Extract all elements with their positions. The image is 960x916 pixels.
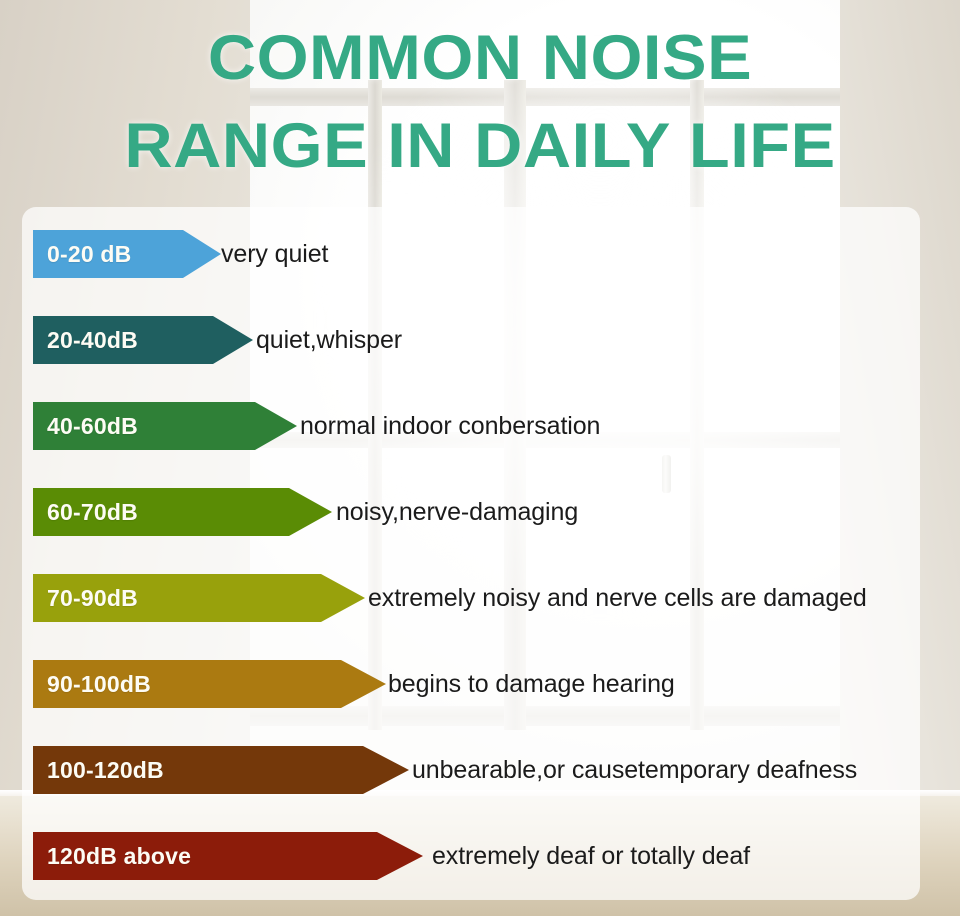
noise-range-label: 0-20 dB (33, 241, 131, 268)
noise-range-label: 120dB above (33, 843, 191, 870)
noise-range-arrow[interactable]: 100-120dB (33, 746, 409, 794)
noise-range-label: 70-90dB (33, 585, 138, 612)
noise-level-row: 20-40dBquiet,whisper (33, 311, 960, 369)
noise-description: begins to damage hearing (388, 670, 675, 699)
noise-level-row: 0-20 dBvery quiet (33, 225, 960, 283)
noise-level-row: 40-60dBnormal indoor conbersation (33, 397, 960, 455)
noise-description: extremely deaf or totally deaf (432, 842, 750, 871)
noise-level-row: 60-70dBnoisy,nerve-damaging (33, 483, 960, 541)
noise-level-list: 0-20 dBvery quiet20-40dBquiet,whisper40-… (0, 207, 960, 907)
noise-range-label: 40-60dB (33, 413, 138, 440)
noise-range-label: 90-100dB (33, 671, 151, 698)
noise-level-row: 100-120dBunbearable,or causetemporary de… (33, 741, 960, 799)
noise-range-arrow[interactable]: 70-90dB (33, 574, 365, 622)
noise-range-arrow[interactable]: 20-40dB (33, 316, 253, 364)
noise-range-arrow[interactable]: 0-20 dB (33, 230, 221, 278)
noise-description: extremely noisy and nerve cells are dama… (368, 584, 867, 613)
noise-description: quiet,whisper (256, 326, 402, 355)
noise-level-row: 90-100dBbegins to damage hearing (33, 655, 960, 713)
noise-description: very quiet (221, 240, 328, 269)
noise-range-arrow[interactable]: 60-70dB (33, 488, 332, 536)
noise-range-arrow[interactable]: 90-100dB (33, 660, 386, 708)
noise-range-label: 60-70dB (33, 499, 138, 526)
noise-description: unbearable,or causetemporary deafness (412, 756, 857, 785)
noise-range-arrow[interactable]: 40-60dB (33, 402, 297, 450)
noise-range-arrow[interactable]: 120dB above (33, 832, 423, 880)
noise-range-label: 20-40dB (33, 327, 138, 354)
noise-range-infographic: COMMON NOISE RANGE IN DAILY LIFE 0-20 dB… (0, 0, 960, 916)
noise-level-row: 120dB aboveextremely deaf or totally dea… (33, 827, 960, 885)
noise-description: normal indoor conbersation (300, 412, 600, 441)
noise-description: noisy,nerve-damaging (336, 498, 578, 527)
noise-level-row: 70-90dBextremely noisy and nerve cells a… (33, 569, 960, 627)
noise-range-label: 100-120dB (33, 757, 164, 784)
